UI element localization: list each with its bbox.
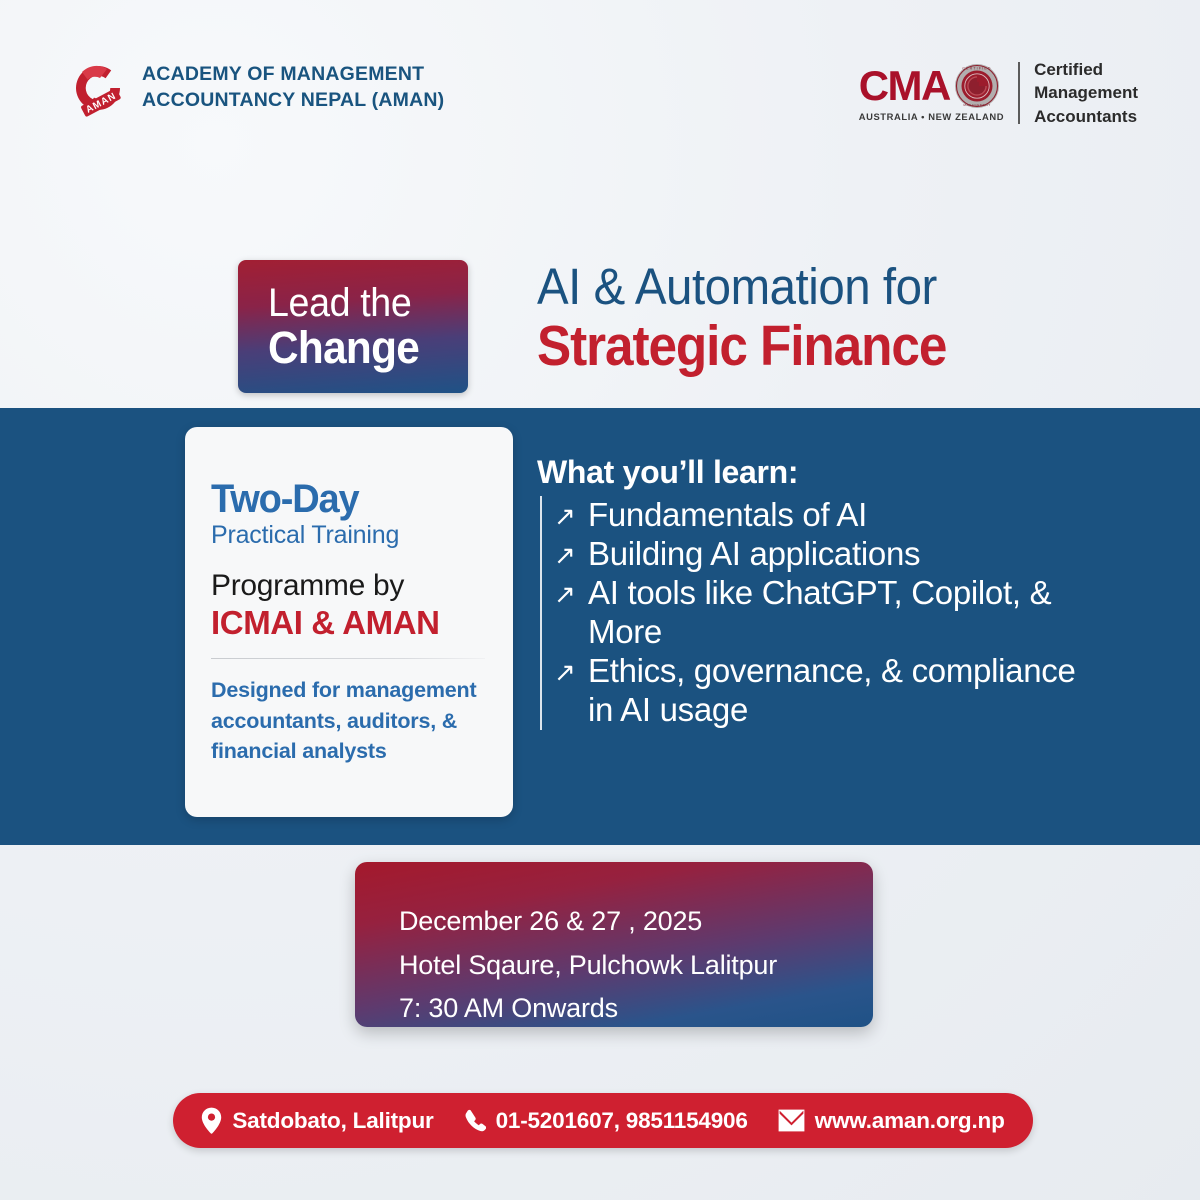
svg-text:MANAGEMENT: MANAGEMENT bbox=[963, 104, 990, 108]
arrow-up-right-icon: ↗ bbox=[554, 576, 588, 614]
aman-name-line-2: ACCOUNTANCY NEPAL (AMAN) bbox=[142, 88, 444, 114]
arrow-up-right-icon: ↗ bbox=[554, 498, 588, 536]
envelope-icon bbox=[778, 1109, 805, 1132]
arrow-up-right-icon: ↗ bbox=[554, 537, 588, 575]
cma-mark: CMA CERTIFIED MANAGEMENT bbox=[859, 63, 1012, 122]
poster-title: AI & Automation for Strategic Finance bbox=[537, 261, 992, 375]
footer-location: Satdobato, Lalitpur bbox=[201, 1107, 433, 1134]
event-venue: Hotel Sqaure, Pulchowk Lalitpur bbox=[399, 944, 873, 988]
card-divider bbox=[211, 658, 485, 659]
footer-location-label: Satdobato, Lalitpur bbox=[232, 1108, 433, 1134]
contact-footer-bar: Satdobato, Lalitpur 01-5201607, 98511549… bbox=[173, 1093, 1033, 1148]
card-audience-text: Designed for management accountants, aud… bbox=[211, 675, 487, 767]
card-practical-training-label: Practical Training bbox=[211, 522, 487, 548]
cma-region-label: AUSTRALIA • NEW ZEALAND bbox=[859, 111, 1004, 122]
cma-acronym: CMA bbox=[859, 67, 950, 106]
what-you-will-learn-block: What you’ll learn: ↗ Fundamentals of AI … bbox=[537, 455, 1097, 730]
list-item: ↗ AI tools like ChatGPT, Copilot, & More bbox=[542, 574, 1097, 652]
aman-name-line-1: ACADEMY OF MANAGEMENT bbox=[142, 62, 444, 88]
badge-line-2: Change bbox=[268, 325, 456, 371]
svg-text:CERTIFIED: CERTIFIED bbox=[962, 67, 991, 71]
title-line-2: Strategic Finance bbox=[537, 317, 946, 375]
list-item: ↗ Building AI applications bbox=[542, 535, 1097, 574]
poster-canvas: AMAN ACADEMY OF MANAGEMENT ACCOUNTANCY N… bbox=[0, 0, 1200, 1200]
learn-item-label: Ethics, governance, & compliance in AI u… bbox=[588, 652, 1097, 730]
learn-item-label: Building AI applications bbox=[588, 535, 1097, 574]
card-programme-by-label: Programme by bbox=[211, 570, 487, 602]
aman-logo-block: AMAN ACADEMY OF MANAGEMENT ACCOUNTANCY N… bbox=[68, 58, 444, 118]
footer-website-label: www.aman.org.np bbox=[815, 1108, 1005, 1134]
event-details-box: December 26 & 27 , 2025 Hotel Sqaure, Pu… bbox=[355, 862, 873, 1027]
event-date: December 26 & 27 , 2025 bbox=[399, 900, 873, 944]
footer-website: www.aman.org.np bbox=[778, 1108, 1005, 1134]
lead-the-change-badge: Lead the Change bbox=[238, 260, 468, 393]
aman-circular-c-logo-icon: AMAN bbox=[68, 58, 128, 118]
poster-header: AMAN ACADEMY OF MANAGEMENT ACCOUNTANCY N… bbox=[0, 0, 1200, 160]
title-line-1: AI & Automation for bbox=[537, 261, 960, 313]
cma-full-line-1: Certified bbox=[1034, 58, 1138, 81]
footer-phone-label: 01-5201607, 9851154906 bbox=[496, 1108, 748, 1134]
learn-heading: What you’ll learn: bbox=[537, 455, 1097, 490]
learn-list: ↗ Fundamentals of AI ↗ Building AI appli… bbox=[540, 496, 1097, 730]
cma-logo-block: CMA CERTIFIED MANAGEMENT bbox=[859, 58, 1138, 128]
list-item: ↗ Fundamentals of AI bbox=[542, 496, 1097, 535]
aman-org-name: ACADEMY OF MANAGEMENT ACCOUNTANCY NEPAL … bbox=[142, 62, 444, 114]
programme-info-card: Two-Day Practical Training Programme by … bbox=[185, 427, 513, 817]
cma-full-name: Certified Management Accountants bbox=[1034, 58, 1138, 128]
cma-divider bbox=[1018, 62, 1020, 124]
cma-full-line-3: Accountants bbox=[1034, 105, 1138, 128]
phone-icon bbox=[464, 1109, 486, 1133]
learn-item-label: AI tools like ChatGPT, Copilot, & More bbox=[588, 574, 1097, 652]
learn-item-label: Fundamentals of AI bbox=[588, 496, 1097, 535]
card-two-day-label: Two-Day bbox=[211, 479, 473, 519]
list-item: ↗ Ethics, governance, & compliance in AI… bbox=[542, 652, 1097, 730]
cma-certified-seal-icon: CERTIFIED MANAGEMENT bbox=[954, 63, 1000, 109]
badge-line-1: Lead the bbox=[268, 283, 456, 323]
arrow-up-right-icon: ↗ bbox=[554, 654, 588, 692]
location-pin-icon bbox=[201, 1107, 222, 1134]
headline-row: Lead the Change AI & Automation for Stra… bbox=[0, 255, 1200, 400]
event-time: 7: 30 AM Onwards bbox=[399, 987, 873, 1031]
footer-phone: 01-5201607, 9851154906 bbox=[464, 1108, 748, 1134]
cma-full-line-2: Management bbox=[1034, 81, 1138, 104]
card-organisers-label: ICMAI & AMAN bbox=[211, 606, 487, 641]
